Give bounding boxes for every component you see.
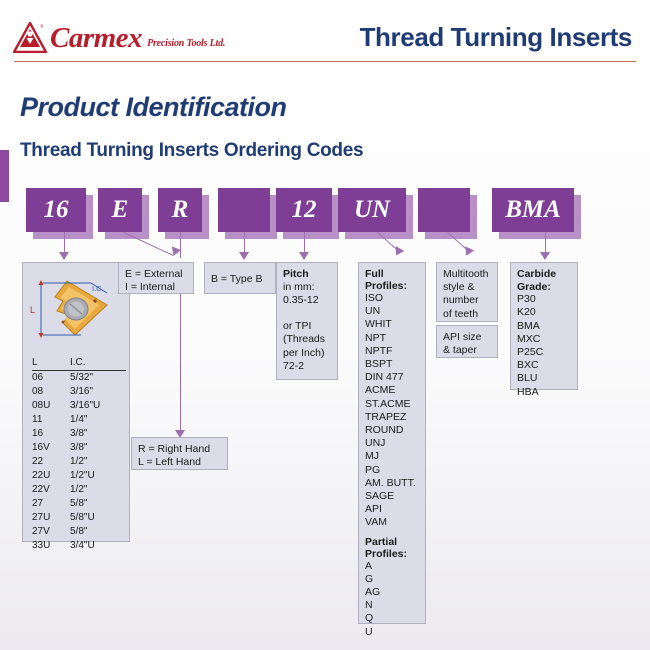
connector-arrow-8 bbox=[540, 252, 550, 260]
brand-name: Carmex bbox=[50, 25, 142, 53]
size-cell-l: 27 bbox=[32, 497, 70, 511]
code-box-2[interactable]: E bbox=[98, 188, 142, 232]
pitch-callout: Pitch in mm:0.35-12 or TPI(Threadsper In… bbox=[276, 262, 338, 380]
partial-profiles-title: Partial bbox=[365, 536, 419, 548]
carbide-grade-callout: Carbide Grade: P30K20BMAMXCP25CBXCBLUHBA bbox=[510, 262, 578, 390]
section-title: Product Identification bbox=[20, 92, 287, 123]
threading-insert-icon: L I.C. bbox=[29, 271, 121, 349]
size-cell-ic: 5/8" bbox=[70, 525, 126, 539]
size-cell-l: 16 bbox=[32, 427, 70, 441]
carbide-grade-item: BXC bbox=[517, 359, 571, 372]
code-box-1[interactable]: 16 bbox=[26, 188, 86, 232]
full-profile-item: UNJ bbox=[365, 437, 419, 450]
full-profile-item: UN bbox=[365, 305, 419, 318]
size-cell-ic: 5/32" bbox=[70, 371, 126, 385]
connector-line-4 bbox=[244, 232, 245, 254]
size-cell-l: 08 bbox=[32, 385, 70, 399]
code-box-8[interactable]: BMA bbox=[492, 188, 574, 232]
multitooth-line: number bbox=[443, 294, 491, 307]
api-callout: API size& taper bbox=[436, 325, 498, 358]
full-profile-item: API bbox=[365, 503, 419, 516]
multitooth-callout: Multitoothstyle &numberof teeth bbox=[436, 262, 498, 322]
carbide-grade-item: BMA bbox=[517, 320, 571, 333]
connector-line-3b bbox=[180, 292, 181, 432]
profiles-callout: Full Profiles: ISOUNWHITNPTNPTFBSPTDIN 4… bbox=[358, 262, 426, 624]
pitch-line: in mm: bbox=[283, 281, 331, 294]
external-internal-callout: E = External I = Internal bbox=[118, 262, 194, 294]
header-divider bbox=[14, 61, 636, 62]
multitooth-line: style & bbox=[443, 281, 491, 294]
external-line: E = External bbox=[125, 268, 187, 281]
size-cell-ic: 3/4"U bbox=[70, 539, 126, 553]
size-cell-l: 08U bbox=[32, 399, 70, 413]
size-cell-ic: 3/8" bbox=[70, 441, 126, 455]
connector-line-5 bbox=[304, 232, 305, 254]
size-table-row: 111/4" bbox=[32, 413, 126, 427]
brand-tagline: Precision Tools Ltd. bbox=[147, 38, 225, 49]
right-hand-line: R = Right Hand bbox=[138, 443, 221, 456]
full-profile-item: ROUND bbox=[365, 424, 419, 437]
api-line: API size bbox=[443, 331, 491, 344]
code-box-label: E bbox=[98, 188, 142, 232]
size-table-row: 27U5/8"U bbox=[32, 511, 126, 525]
full-profile-item: ISO bbox=[365, 292, 419, 305]
dimension-label-ic: I.C. bbox=[92, 283, 104, 296]
size-table-row: 22U1/2"U bbox=[32, 469, 126, 483]
page-root: ® Carmex Precision Tools Ltd. Thread Tur… bbox=[0, 0, 650, 650]
partial-profile-item: A bbox=[365, 560, 419, 573]
full-profile-item: VAM bbox=[365, 516, 419, 529]
connector-line-8 bbox=[545, 232, 546, 254]
carbide-grade-item: HBA bbox=[517, 386, 571, 399]
partial-profile-item: Q bbox=[365, 612, 419, 625]
size-cell-l: 22V bbox=[32, 483, 70, 497]
page-title: Thread Turning Inserts bbox=[360, 22, 632, 53]
code-box-label: 16 bbox=[26, 188, 86, 232]
size-table-row: 08U3/16"U bbox=[32, 399, 126, 413]
size-cell-l: 22 bbox=[32, 455, 70, 469]
full-profiles-list: ISOUNWHITNPTNPTFBSPTDIN 477ACMEST.ACMETR… bbox=[365, 292, 419, 530]
size-table-row: 16V3/8" bbox=[32, 441, 126, 455]
size-cell-ic: 3/16" bbox=[70, 385, 126, 399]
size-cell-l: 06 bbox=[32, 371, 70, 385]
pitch-line: per Inch) bbox=[283, 347, 331, 360]
size-table-header-l: L bbox=[32, 356, 70, 371]
connector-arrow-5 bbox=[299, 252, 309, 260]
connector-arrow-1 bbox=[59, 252, 69, 260]
size-table-row: 083/16" bbox=[32, 385, 126, 399]
size-table-row: 221/2" bbox=[32, 455, 126, 469]
full-profile-item: ST.ACME bbox=[365, 398, 419, 411]
page-header: ® Carmex Precision Tools Ltd. Thread Tur… bbox=[0, 0, 650, 70]
code-box-label bbox=[218, 188, 270, 232]
code-box-7[interactable] bbox=[418, 188, 470, 232]
partial-profiles-title-2: Profiles: bbox=[365, 548, 419, 560]
full-profiles-title: Full bbox=[365, 268, 419, 280]
size-table-row: 22V1/2" bbox=[32, 483, 126, 497]
full-profile-item: WHIT bbox=[365, 318, 419, 331]
full-profile-item: NPT bbox=[365, 332, 419, 345]
carmex-triangle-logo-icon: ® bbox=[13, 22, 47, 53]
hand-direction-callout: R = Right Hand L = Left Hand bbox=[131, 437, 228, 470]
size-table: L I.C. 065/32"083/16"08U3/16"U111/4"163/… bbox=[32, 356, 126, 553]
pitch-line bbox=[283, 307, 331, 320]
full-profile-item: MJ bbox=[365, 450, 419, 463]
internal-line: I = Internal bbox=[125, 281, 187, 294]
connector-line-2 bbox=[124, 232, 174, 256]
partial-profiles-list: AGAGNQU bbox=[365, 560, 419, 639]
size-cell-l: 22U bbox=[32, 469, 70, 483]
code-box-3[interactable]: R bbox=[158, 188, 202, 232]
dimension-label-l: L bbox=[30, 304, 35, 317]
pitch-line: or TPI bbox=[283, 320, 331, 333]
purple-accent-bar bbox=[0, 150, 9, 202]
full-profile-item: ACME bbox=[365, 384, 419, 397]
code-box-label: 12 bbox=[276, 188, 332, 232]
size-cell-ic: 5/8" bbox=[70, 497, 126, 511]
svg-text:®: ® bbox=[40, 24, 44, 30]
size-table-row: 27V5/8" bbox=[32, 525, 126, 539]
api-line: & taper bbox=[443, 344, 491, 357]
multitooth-line: of teeth bbox=[443, 308, 491, 321]
size-cell-l: 33U bbox=[32, 539, 70, 553]
type-callout: B = Type B bbox=[204, 262, 276, 294]
code-box-label: UN bbox=[338, 188, 406, 232]
size-cell-l: 11 bbox=[32, 413, 70, 427]
size-cell-ic: 1/2" bbox=[70, 455, 126, 469]
size-cell-l: 27V bbox=[32, 525, 70, 539]
carbide-grade-item: P30 bbox=[517, 293, 571, 306]
carbide-grade-title-2: Grade: bbox=[517, 281, 571, 294]
partial-profile-item: G bbox=[365, 573, 419, 586]
size-table-row: 33U3/4"U bbox=[32, 539, 126, 553]
connector-line-3 bbox=[180, 232, 181, 258]
connector-arrow-7 bbox=[462, 246, 474, 257]
full-profile-item: SAGE bbox=[365, 490, 419, 503]
full-profile-item: NPTF bbox=[365, 345, 419, 358]
insert-size-callout: L I.C. L I.C. 065/32"083/16"08U3/16"U111… bbox=[22, 262, 130, 542]
code-box-4[interactable] bbox=[218, 188, 270, 232]
partial-profile-item: N bbox=[365, 599, 419, 612]
size-table-row: 275/8" bbox=[32, 497, 126, 511]
size-cell-ic: 5/8"U bbox=[70, 511, 126, 525]
size-table-header: L I.C. bbox=[32, 356, 126, 371]
full-profiles-title-2: Profiles: bbox=[365, 280, 419, 292]
full-profile-item: DIN 477 bbox=[365, 371, 419, 384]
size-table-header-ic: I.C. bbox=[70, 356, 126, 371]
section-subtitle: Thread Turning Inserts Ordering Codes bbox=[20, 140, 363, 162]
pitch-title: Pitch bbox=[283, 268, 331, 281]
carbide-grade-item: K20 bbox=[517, 306, 571, 319]
pitch-line: (Threads bbox=[283, 333, 331, 346]
partial-profile-item: AG bbox=[365, 586, 419, 599]
carbide-grade-title: Carbide bbox=[517, 268, 571, 281]
full-profile-item: AM. BUTT. bbox=[365, 477, 419, 490]
code-box-5[interactable]: 12 bbox=[276, 188, 332, 232]
code-box-label: BMA bbox=[492, 188, 574, 232]
size-table-row: 065/32" bbox=[32, 371, 126, 385]
carbide-grade-item: P25C bbox=[517, 346, 571, 359]
size-cell-ic: 1/2"U bbox=[70, 469, 126, 483]
size-cell-ic: 3/16"U bbox=[70, 399, 126, 413]
size-cell-ic: 1/4" bbox=[70, 413, 126, 427]
carbide-grade-item: BLU bbox=[517, 372, 571, 385]
carbide-grade-item: MXC bbox=[517, 333, 571, 346]
left-hand-line: L = Left Hand bbox=[138, 456, 221, 469]
full-profile-item: TRAPEZ bbox=[365, 411, 419, 424]
carbide-grade-list: P30K20BMAMXCP25CBXCBLUHBA bbox=[517, 293, 571, 399]
size-cell-l: 27U bbox=[32, 511, 70, 525]
connector-arrow-4 bbox=[239, 252, 249, 260]
code-box-6[interactable]: UN bbox=[338, 188, 406, 232]
code-box-label: R bbox=[158, 188, 202, 232]
pitch-line: 72-2 bbox=[283, 360, 331, 373]
size-cell-ic: 3/8" bbox=[70, 427, 126, 441]
size-cell-l: 16V bbox=[32, 441, 70, 455]
pitch-line: 0.35-12 bbox=[283, 294, 331, 307]
multitooth-line: Multitooth bbox=[443, 268, 491, 281]
connector-arrow-6 bbox=[392, 246, 405, 258]
size-cell-ic: 1/2" bbox=[70, 483, 126, 497]
code-box-label bbox=[418, 188, 470, 232]
brand-logo: ® Carmex Precision Tools Ltd. bbox=[13, 22, 225, 53]
type-line: B = Type B bbox=[211, 273, 269, 286]
size-table-row: 163/8" bbox=[32, 427, 126, 441]
full-profile-item: PG bbox=[365, 464, 419, 477]
pitch-lines: in mm:0.35-12 or TPI(Threadsper Inch)72-… bbox=[283, 281, 331, 373]
connector-line-1 bbox=[64, 232, 65, 254]
full-profile-item: BSPT bbox=[365, 358, 419, 371]
partial-profile-item: U bbox=[365, 626, 419, 639]
